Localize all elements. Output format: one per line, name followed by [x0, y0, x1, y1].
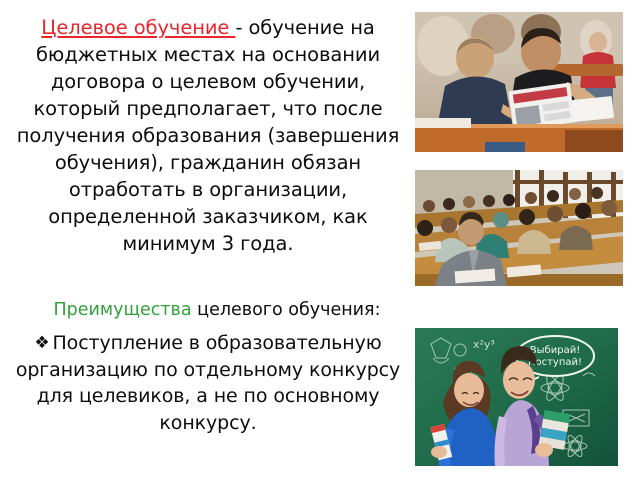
presentation-slide: Целевое обучение - обучение на бюджетных… — [0, 0, 640, 480]
lecture-hall-photo-graphic — [415, 170, 623, 286]
text-column: Целевое обучение - обучение на бюджетных… — [8, 0, 408, 480]
advantages-heading-highlight: Преимущества — [54, 300, 192, 320]
classroom-photo-graphic — [415, 12, 623, 152]
photo-students-reading-brochure — [415, 12, 623, 152]
advantage-bullet-item: ❖Поступление в образовательную организац… — [8, 330, 408, 436]
photo-students-at-chalkboard: x²y³ Выбирай! Поступай! — [415, 328, 618, 466]
photo-lecture-hall-students — [415, 170, 623, 286]
definition-paragraph: Целевое обучение - обучение на бюджетных… — [8, 14, 408, 257]
definition-body: - обучение на бюджетных местах на основа… — [17, 16, 399, 255]
chalkboard-photo-graphic: x²y³ Выбирай! Поступай! — [415, 328, 618, 466]
advantages-heading-rest: целевого обучения: — [192, 300, 381, 320]
svg-text:x²y³: x²y³ — [473, 338, 495, 351]
speech-bubble-line1: Выбирай! — [530, 345, 580, 356]
diamond-bullet-icon: ❖ — [34, 333, 52, 353]
advantage-bullet-text: Поступление в образовательную организаци… — [16, 332, 400, 434]
definition-term: Целевое обучение — [41, 16, 235, 39]
advantages-heading: Преимущества целевого обучения: — [8, 298, 426, 322]
